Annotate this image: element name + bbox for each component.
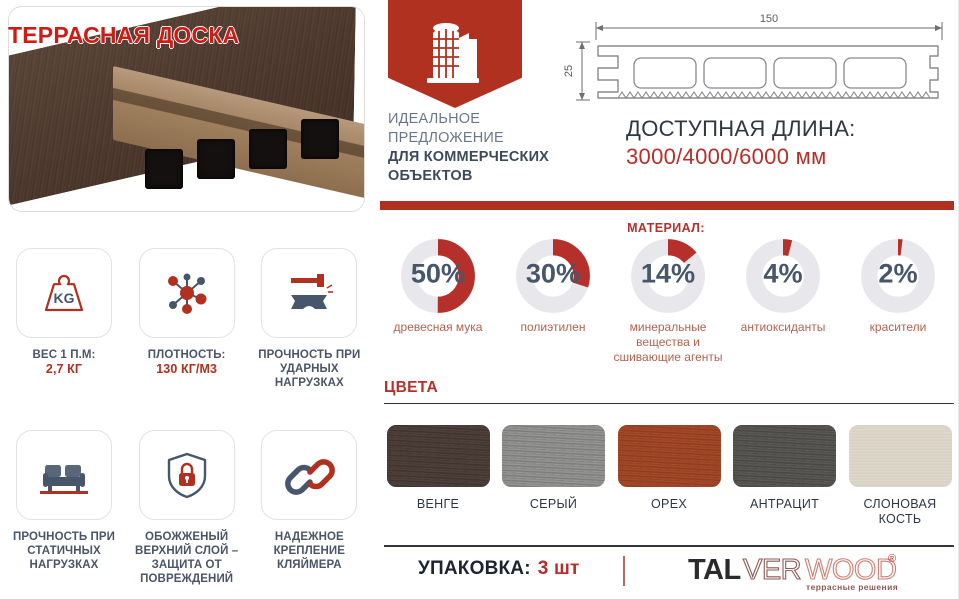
board-chamber xyxy=(145,149,183,189)
feature-icon-box: KG xyxy=(16,248,112,338)
color-swatch-ivory[interactable]: СЛОНОВАЯ КОСТЬ xyxy=(846,425,954,527)
feature-icon-box xyxy=(139,430,235,520)
feature-grid-row-2: ПРОЧНОСТЬ ПРИ СТАТИЧНЫХ НАГРУЗКАХ ОБОЖЖЕ… xyxy=(8,430,366,586)
feature-label: НАДЕЖНОЕ КРЕПЛЕНИЕ КЛЯЙМЕРА xyxy=(250,530,368,572)
offer-line-1: ИДЕАЛЬНОЕ xyxy=(388,110,618,129)
color-swatch-venge[interactable]: ВЕНГЕ xyxy=(384,425,492,527)
commercial-offer-badge xyxy=(388,0,522,108)
feature-value: 2,7 кг xyxy=(5,362,123,376)
swatch-label: АНТРАЦИТ xyxy=(729,497,841,512)
swatch-label: СЛОНОВАЯ КОСТЬ xyxy=(844,497,956,527)
feature-clip-fastening: НАДЕЖНОЕ КРЕПЛЕНИЕ КЛЯЙМЕРА xyxy=(253,430,365,586)
page-title: ТЕРРАСНАЯ ДОСКА xyxy=(8,22,239,49)
offer-line-2: ПРЕДЛОЖЕНИЕ xyxy=(388,129,618,148)
donut-value-0: 50% xyxy=(411,258,465,289)
donut-chart-1: 30% xyxy=(515,238,591,314)
brand-logo: TAL VER WOOD ® террасные решения xyxy=(688,552,918,594)
swatch-chip[interactable] xyxy=(849,425,952,487)
logo-part-2: VER xyxy=(743,554,801,586)
footer-vertical-divider xyxy=(623,556,625,586)
board-chamber xyxy=(301,119,339,159)
donut-item: 4% антиоксиданты xyxy=(727,238,839,365)
donut-chart-2: 14% xyxy=(630,238,706,314)
feature-icon-box xyxy=(16,430,112,520)
swatch-label: ВЕНГЕ xyxy=(382,497,494,512)
logo-registered-mark: ® xyxy=(888,553,896,565)
feature-label-text: ВЕС 1 П.М: xyxy=(33,349,96,361)
feature-icon-box xyxy=(261,430,357,520)
donut-label-4: красители xyxy=(841,320,955,335)
feature-label: ПРОЧНОСТЬ ПРИ СТАТИЧНЫХ НАГРУЗКАХ xyxy=(5,530,123,572)
footer-divider xyxy=(384,545,954,547)
material-heading: МАТЕРИАЛ: xyxy=(378,221,954,235)
svg-text:KG: KG xyxy=(54,290,75,306)
available-length-block: ДОСТУПНАЯ ДЛИНА: 3000/4000/6000 мм xyxy=(626,116,956,170)
badge-pentagon xyxy=(388,0,522,108)
offer-line-4: ОБЪЕКТОВ xyxy=(388,167,618,186)
swatch-chip[interactable] xyxy=(618,425,721,487)
board-chamber xyxy=(249,129,287,169)
feature-impact-strength: ПРОЧНОСТЬ ПРИ УДАРНЫХ НАГРУЗКАХ xyxy=(253,248,365,390)
feature-grid-row-1: KG ВЕС 1 П.М: 2,7 кг xyxy=(8,248,366,390)
donut-value-2: 14% xyxy=(641,258,695,289)
donut-value-3: 4% xyxy=(763,258,802,289)
available-length-value: 3000/4000/6000 мм xyxy=(626,144,956,170)
molecule-density-icon xyxy=(160,268,214,318)
logo-tagline: террасные решения xyxy=(806,582,898,592)
feature-icon-box xyxy=(261,248,357,338)
colors-divider xyxy=(384,403,954,404)
commercial-building-icon xyxy=(419,17,491,91)
donut-label-0: древесная мука xyxy=(381,320,495,335)
board-cross-section-drawing: 150 25 xyxy=(556,6,954,110)
swatch-chip[interactable] xyxy=(387,425,490,487)
right-column: ИДЕАЛЬНОЕ ПРЕДЛОЖЕНИЕ ДЛЯ КОММЕРЧЕСКИХ О… xyxy=(378,0,959,599)
chain-link-icon xyxy=(283,451,335,499)
material-composition-chart: 50% древесная мука 30% полиэтилен 14% xyxy=(382,238,954,365)
offer-line-3: ДЛЯ КОММЕРЧЕСКИХ xyxy=(388,148,618,167)
color-swatch-list: ВЕНГЕ СЕРЫЙ ОРЕХ АНТРАЦИТ СЛОНОВАЯ КОСТЬ xyxy=(384,425,954,527)
donut-item: 30% полиэтилен xyxy=(497,238,609,365)
donut-label-1: полиэтилен xyxy=(496,320,610,335)
color-swatch-nut[interactable]: ОРЕХ xyxy=(615,425,723,527)
swatch-label: СЕРЫЙ xyxy=(498,497,610,512)
feature-label: ВЕС 1 П.М: 2,7 кг xyxy=(5,348,123,376)
donut-chart-0: 50% xyxy=(400,238,476,314)
drawing-width-label: 150 xyxy=(760,13,778,25)
feature-label-text: ПЛОТНОСТЬ: xyxy=(148,349,226,361)
donut-item: 14% минеральные вещества и сшивающие аге… xyxy=(612,238,724,365)
left-column: ТЕРРАСНАЯ ДОСКА KG ВЕС 1 П.М: 2,7 кг xyxy=(0,0,372,599)
feature-label: ПЛОТНОСТЬ: 130 кг/м3 xyxy=(128,348,246,376)
donut-chart-4: 2% xyxy=(860,238,936,314)
feature-static-strength: ПРОЧНОСТЬ ПРИ СТАТИЧНЫХ НАГРУЗКАХ xyxy=(8,430,120,586)
available-length-title: ДОСТУПНАЯ ДЛИНА: xyxy=(626,116,956,142)
donut-value-1: 30% xyxy=(526,258,580,289)
drawing-height-label: 25 xyxy=(563,65,575,77)
color-swatch-anthracite[interactable]: АНТРАЦИТ xyxy=(731,425,839,527)
donut-label-2: минеральные вещества и сшивающие агенты xyxy=(611,320,725,365)
swatch-label: ОРЕХ xyxy=(613,497,725,512)
donut-label-3: антиоксиданты xyxy=(726,320,840,335)
section-divider-bar xyxy=(380,201,954,210)
shield-lock-icon xyxy=(163,449,211,501)
donut-value-4: 2% xyxy=(878,258,917,289)
color-swatch-gray[interactable]: СЕРЫЙ xyxy=(500,425,608,527)
board-chamber xyxy=(197,139,235,179)
infographic-page: ТЕРРАСНАЯ ДОСКА KG ВЕС 1 П.М: 2,7 кг xyxy=(0,0,959,599)
colors-heading: ЦВЕТА xyxy=(384,379,438,397)
feature-weight: KG ВЕС 1 П.М: 2,7 кг xyxy=(8,248,120,390)
weight-kg-icon: KG xyxy=(38,269,90,317)
logo-part-1: TAL xyxy=(688,554,741,586)
packaging-quantity: 3 шт xyxy=(538,558,580,580)
swatch-chip[interactable] xyxy=(502,425,605,487)
feature-label: ОБОЖЖЕНЫЙ ВЕРХНИЙ СЛОЙ – ЗАЩИТА ОТ ПОВРЕ… xyxy=(128,530,246,586)
feature-burnt-layer: ОБОЖЖЕНЫЙ ВЕРХНИЙ СЛОЙ – ЗАЩИТА ОТ ПОВРЕ… xyxy=(131,430,243,586)
offer-headline: ИДЕАЛЬНОЕ ПРЕДЛОЖЕНИЕ ДЛЯ КОММЕРЧЕСКИХ О… xyxy=(388,110,618,186)
donut-chart-3: 4% xyxy=(745,238,821,314)
feature-icon-box xyxy=(139,248,235,338)
feature-label: ПРОЧНОСТЬ ПРИ УДАРНЫХ НАГРУЗКАХ xyxy=(250,348,368,390)
feature-value: 130 кг/м3 xyxy=(128,362,246,376)
donut-item: 2% красители xyxy=(842,238,954,365)
packaging-info: УПАКОВКА: 3 шт xyxy=(418,558,580,580)
swatch-chip[interactable] xyxy=(733,425,836,487)
anvil-hammer-icon xyxy=(281,269,337,317)
feature-density: ПЛОТНОСТЬ: 130 кг/м3 xyxy=(131,248,243,390)
donut-item: 50% древесная мука xyxy=(382,238,494,365)
packaging-label: УПАКОВКА: xyxy=(418,558,531,580)
sofa-icon xyxy=(36,452,92,498)
